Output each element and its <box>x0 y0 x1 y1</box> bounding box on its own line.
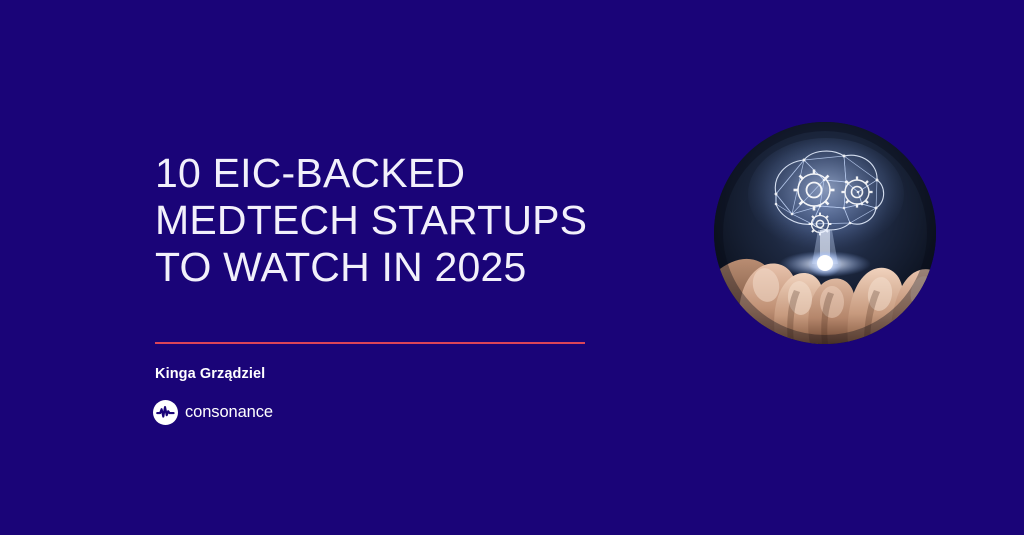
accent-divider <box>155 342 585 344</box>
blog-cover-slide: 10 EIC-BACKED MEDTECH STARTUPS TO WATCH … <box>0 0 1024 535</box>
brand-logo: consonance <box>153 400 273 425</box>
page-title: 10 EIC-BACKED MEDTECH STARTUPS TO WATCH … <box>155 150 595 291</box>
title-block: 10 EIC-BACKED MEDTECH STARTUPS TO WATCH … <box>155 150 595 291</box>
cover-illustration <box>714 122 936 344</box>
pulse-waveform-icon <box>153 400 178 425</box>
author-name: Kinga Grządziel <box>155 366 265 382</box>
brand-name: consonance <box>185 404 273 421</box>
